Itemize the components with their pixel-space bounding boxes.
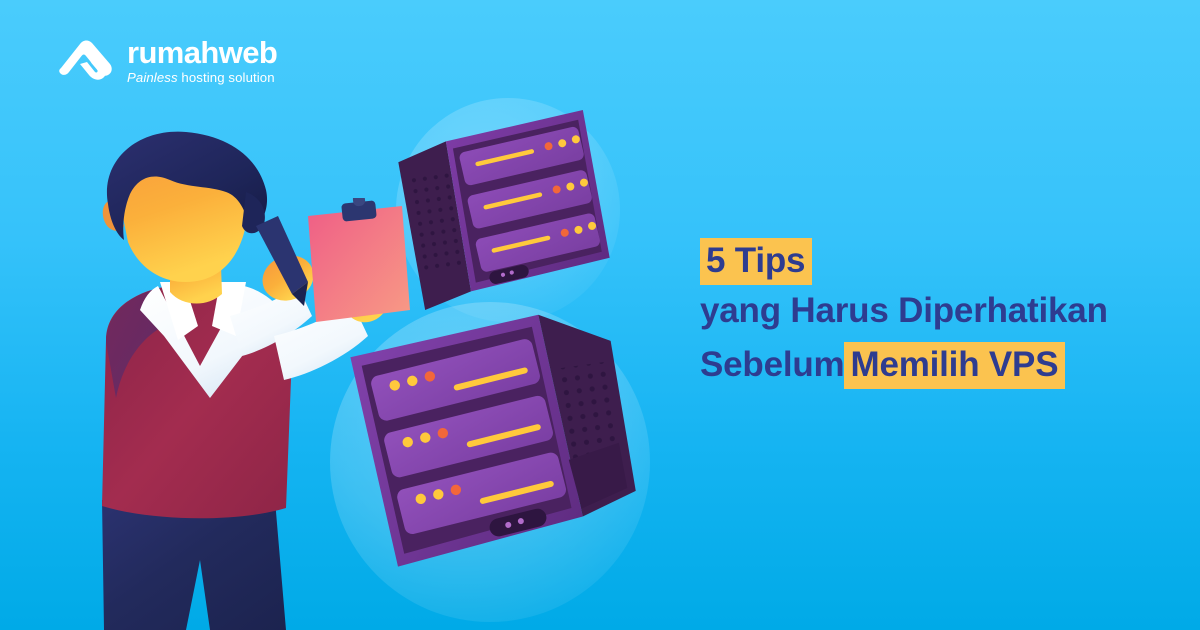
headline-text-line-2: yang Harus Diperhatikan — [700, 287, 1108, 338]
character-trousers — [102, 500, 286, 630]
headline-line-1: 5 Tips — [700, 240, 1170, 283]
headline-highlight-5-tips: 5 Tips — [700, 238, 812, 285]
banner-canvas: rumahweb Painless hosting solution 5 Tip… — [0, 0, 1200, 630]
logo-tagline-rest: hosting solution — [178, 70, 275, 85]
logo-tagline: Painless hosting solution — [127, 71, 277, 84]
logo-name: rumahweb — [127, 37, 277, 68]
headline-highlight-memilih-vps: Memilih VPS — [844, 342, 1065, 389]
clipboard-illustration — [298, 198, 416, 328]
headline-line-2: yang Harus Diperhatikan — [700, 287, 1170, 338]
logo-tagline-italic: Painless — [127, 70, 178, 85]
logo-wordmark: rumahweb Painless hosting solution — [127, 35, 277, 84]
headline-text-sebelum: Sebelum — [700, 341, 844, 392]
vps-server-large — [344, 302, 646, 587]
rumahweb-ribbon-logo-icon — [58, 34, 114, 86]
headline-line-3: Sebelum Memilih VPS — [700, 341, 1170, 392]
rumahweb-logo[interactable]: rumahweb Painless hosting solution — [58, 34, 277, 86]
vps-server-small — [392, 107, 615, 313]
headline-block: 5 Tips yang Harus Diperhatikan Sebelum M… — [700, 240, 1170, 392]
